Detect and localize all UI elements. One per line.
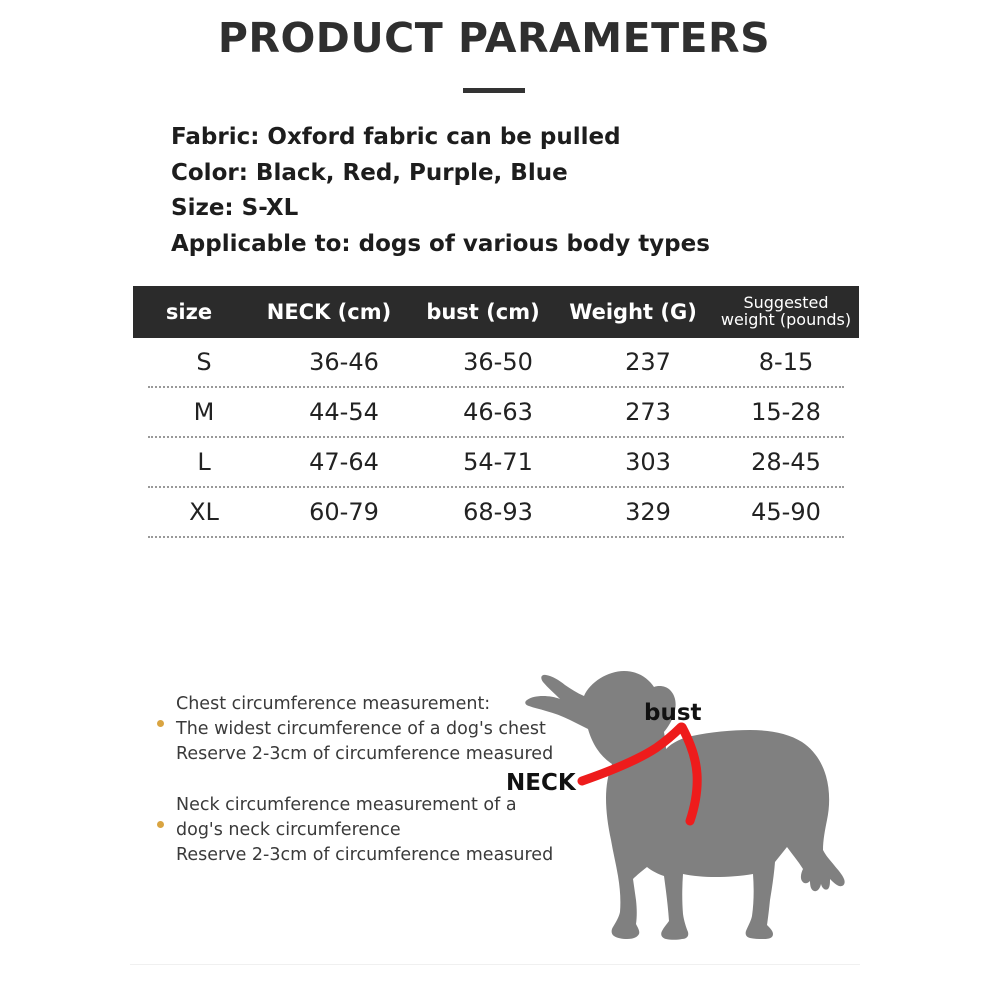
- column-header-suggested-line2: weight (pounds): [713, 312, 859, 329]
- note-line: Reserve 2-3cm of circumference measured: [176, 843, 528, 868]
- note-line: Neck circumference measurement of a: [176, 793, 528, 818]
- cell-suggested: 45-90: [728, 498, 844, 526]
- cell-bust: 36-50: [428, 348, 568, 376]
- column-header-neck: NECK (cm): [245, 301, 413, 323]
- cell-size: L: [148, 448, 260, 476]
- table-row: S 36-46 36-50 237 8-15: [148, 338, 844, 388]
- table-row: M 44-54 46-63 273 15-28: [148, 388, 844, 438]
- cell-weight: 273: [568, 398, 728, 426]
- cell-neck: 36-46: [260, 348, 428, 376]
- cell-weight: 303: [568, 448, 728, 476]
- column-header-bust: bust (cm): [413, 301, 553, 323]
- note-line: The widest circumference of a dog's ches…: [176, 717, 528, 742]
- column-header-suggested-weight: Suggested weight (pounds): [713, 295, 859, 329]
- cell-neck: 47-64: [260, 448, 428, 476]
- size-table: size NECK (cm) bust (cm) Weight (G) Sugg…: [133, 286, 859, 538]
- cell-neck: 44-54: [260, 398, 428, 426]
- page-title: PRODUCT PARAMETERS: [0, 14, 988, 62]
- table-row: XL 60-79 68-93 329 45-90: [148, 488, 844, 538]
- measurement-notes: Chest circumference measurement: The wid…: [156, 692, 528, 894]
- cell-suggested: 8-15: [728, 348, 844, 376]
- spec-line-color: Color: Black, Red, Purple, Blue: [171, 156, 871, 192]
- note-line: Chest circumference measurement:: [176, 692, 528, 717]
- cell-weight: 329: [568, 498, 728, 526]
- table-row: L 47-64 54-71 303 28-45: [148, 438, 844, 488]
- cell-size: XL: [148, 498, 260, 526]
- spec-line-fabric: Fabric: Oxford fabric can be pulled: [171, 120, 871, 156]
- cell-weight: 237: [568, 348, 728, 376]
- label-neck: NECK: [506, 770, 576, 796]
- cell-bust: 46-63: [428, 398, 568, 426]
- cell-neck: 60-79: [260, 498, 428, 526]
- spec-line-size: Size: S-XL: [171, 191, 871, 227]
- cell-size: S: [148, 348, 260, 376]
- specs-list: Fabric: Oxford fabric can be pulled Colo…: [171, 120, 871, 262]
- footer-divider: [130, 964, 860, 965]
- cell-suggested: 28-45: [728, 448, 844, 476]
- spec-line-applicable: Applicable to: dogs of various body type…: [171, 227, 871, 263]
- column-header-weight: Weight (G): [553, 301, 713, 323]
- table-header-row: size NECK (cm) bust (cm) Weight (G) Sugg…: [133, 286, 859, 338]
- column-header-size: size: [133, 301, 245, 323]
- bullet-dot-icon: [157, 821, 164, 828]
- label-bust: bust: [644, 700, 702, 726]
- cell-bust: 54-71: [428, 448, 568, 476]
- note-group-neck: Neck circumference measurement of a dog'…: [156, 793, 528, 868]
- dog-measurement-diagram: NECK bust: [496, 660, 876, 945]
- title-divider: [463, 88, 525, 93]
- cell-suggested: 15-28: [728, 398, 844, 426]
- note-line: Reserve 2-3cm of circumference measured: [176, 742, 528, 767]
- note-line: dog's neck circumference: [176, 818, 528, 843]
- cell-bust: 68-93: [428, 498, 568, 526]
- bullet-dot-icon: [157, 720, 164, 727]
- note-group-chest: Chest circumference measurement: The wid…: [156, 692, 528, 767]
- cell-size: M: [148, 398, 260, 426]
